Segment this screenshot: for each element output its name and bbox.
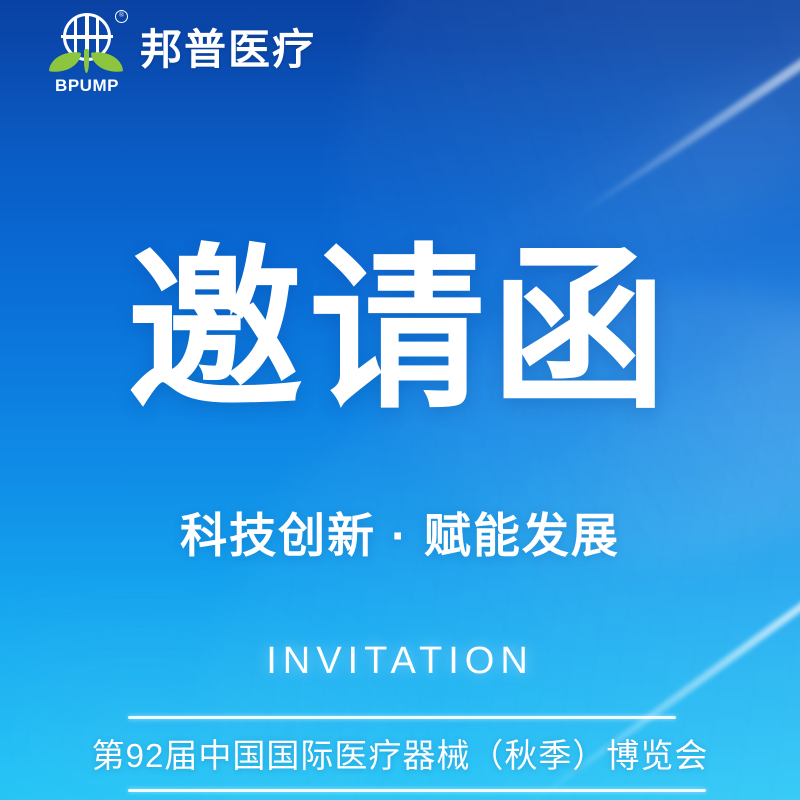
poster-subtitle: 科技创新 · 赋能发展	[0, 508, 800, 564]
invitation-english-label: INVITATION	[0, 641, 800, 683]
logo-wordmark: BPUMP	[48, 77, 126, 94]
logo-leaf-stem-icon	[84, 49, 89, 73]
logo-grid-bar-vertical-right	[96, 17, 99, 57]
logo-grid-bar-horizontal	[61, 35, 113, 38]
logo-leaf-left-icon	[49, 49, 81, 74]
registered-trademark-icon: ®	[115, 10, 128, 23]
logo-grid-bar-vertical-left	[74, 17, 77, 57]
poster-footer: 第92届中国国际医疗器械（秋季）博览会	[0, 716, 800, 792]
bpump-logo: ® BPUMP	[48, 9, 126, 91]
page-title: 邀请函	[0, 236, 800, 426]
event-name: 第92届中国国际医疗器械（秋季）博览会	[0, 719, 800, 789]
divider-bottom	[128, 789, 706, 792]
logo-leaf-right-icon	[91, 49, 123, 74]
poster-header: ® BPUMP 邦普医疗	[0, 0, 800, 100]
poster-content: 邀请函 科技创新 · 赋能发展 INVITATION 第92届中国国际医疗器械（…	[0, 0, 800, 800]
brand-name: 邦普医疗	[140, 29, 316, 71]
invitation-poster: ® BPUMP 邦普医疗 邀请函 科技创新 · 赋能发展 INVITATION …	[0, 0, 800, 800]
